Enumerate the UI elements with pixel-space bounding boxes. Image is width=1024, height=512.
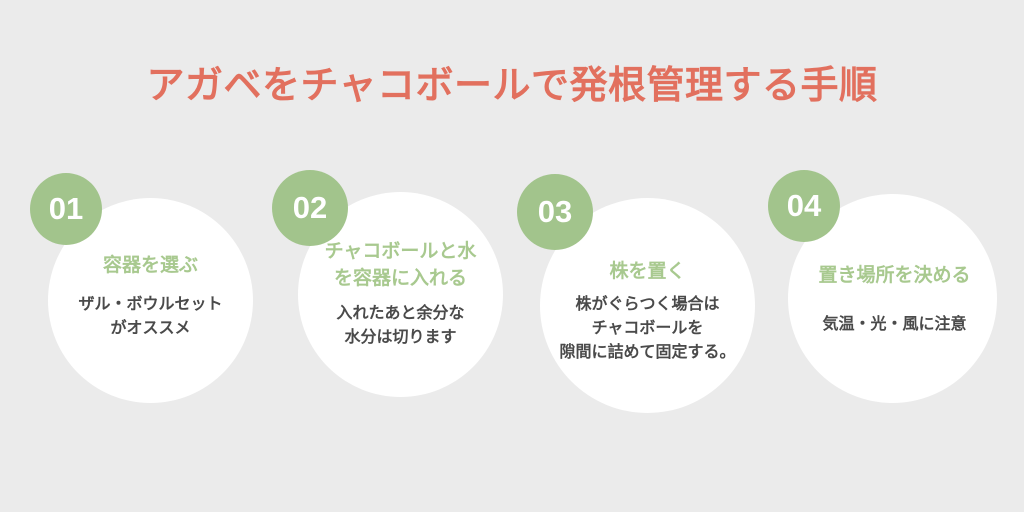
step-title: 容器を選ぶ [33, 252, 268, 279]
step-title: 株を置く [530, 258, 765, 285]
infographic-page: アガベをチャコボールで発根管理する手順 01 容器を選ぶ ザル・ボウルセット が… [0, 0, 1024, 512]
step-title: チャコボールと水 を容器に入れる [283, 238, 518, 292]
step-text-block: チャコボールと水 を容器に入れる 入れたあと余分な 水分は切ります [283, 238, 518, 350]
step-body: 入れたあと余分な 水分は切ります [283, 302, 518, 350]
step-body: ザル・ボウルセット がオススメ [33, 293, 268, 341]
step-text-block: 株を置く 株がぐらつく場合は チャコボールを 隙間に詰めて固定する。 [530, 258, 765, 365]
step-body: 株がぐらつく場合は チャコボールを 隙間に詰めて固定する。 [530, 293, 765, 365]
step-number-badge: 04 [768, 170, 840, 242]
page-title: アガベをチャコボールで発根管理する手順 [0, 62, 1024, 110]
steps-row: 01 容器を選ぶ ザル・ボウルセット がオススメ 02 チャコボールと水 を容器… [0, 170, 1024, 430]
step-text-block: 置き場所を決める 気温・光・風に注意 [777, 262, 1012, 337]
step-card-01: 01 容器を選ぶ ザル・ボウルセット がオススメ [25, 170, 275, 430]
step-number-badge: 01 [30, 173, 102, 245]
step-number-badge: 02 [272, 170, 348, 246]
step-title: 置き場所を決める [777, 262, 1012, 289]
step-card-04: 04 置き場所を決める 気温・光・風に注意 [765, 170, 1015, 430]
step-card-02: 02 チャコボールと水 を容器に入れる 入れたあと余分な 水分は切ります [275, 170, 525, 430]
step-card-03: 03 株を置く 株がぐらつく場合は チャコボールを 隙間に詰めて固定する。 [517, 170, 767, 430]
step-body: 気温・光・風に注意 [777, 313, 1012, 337]
step-number-badge: 03 [517, 174, 593, 250]
step-text-block: 容器を選ぶ ザル・ボウルセット がオススメ [33, 252, 268, 341]
